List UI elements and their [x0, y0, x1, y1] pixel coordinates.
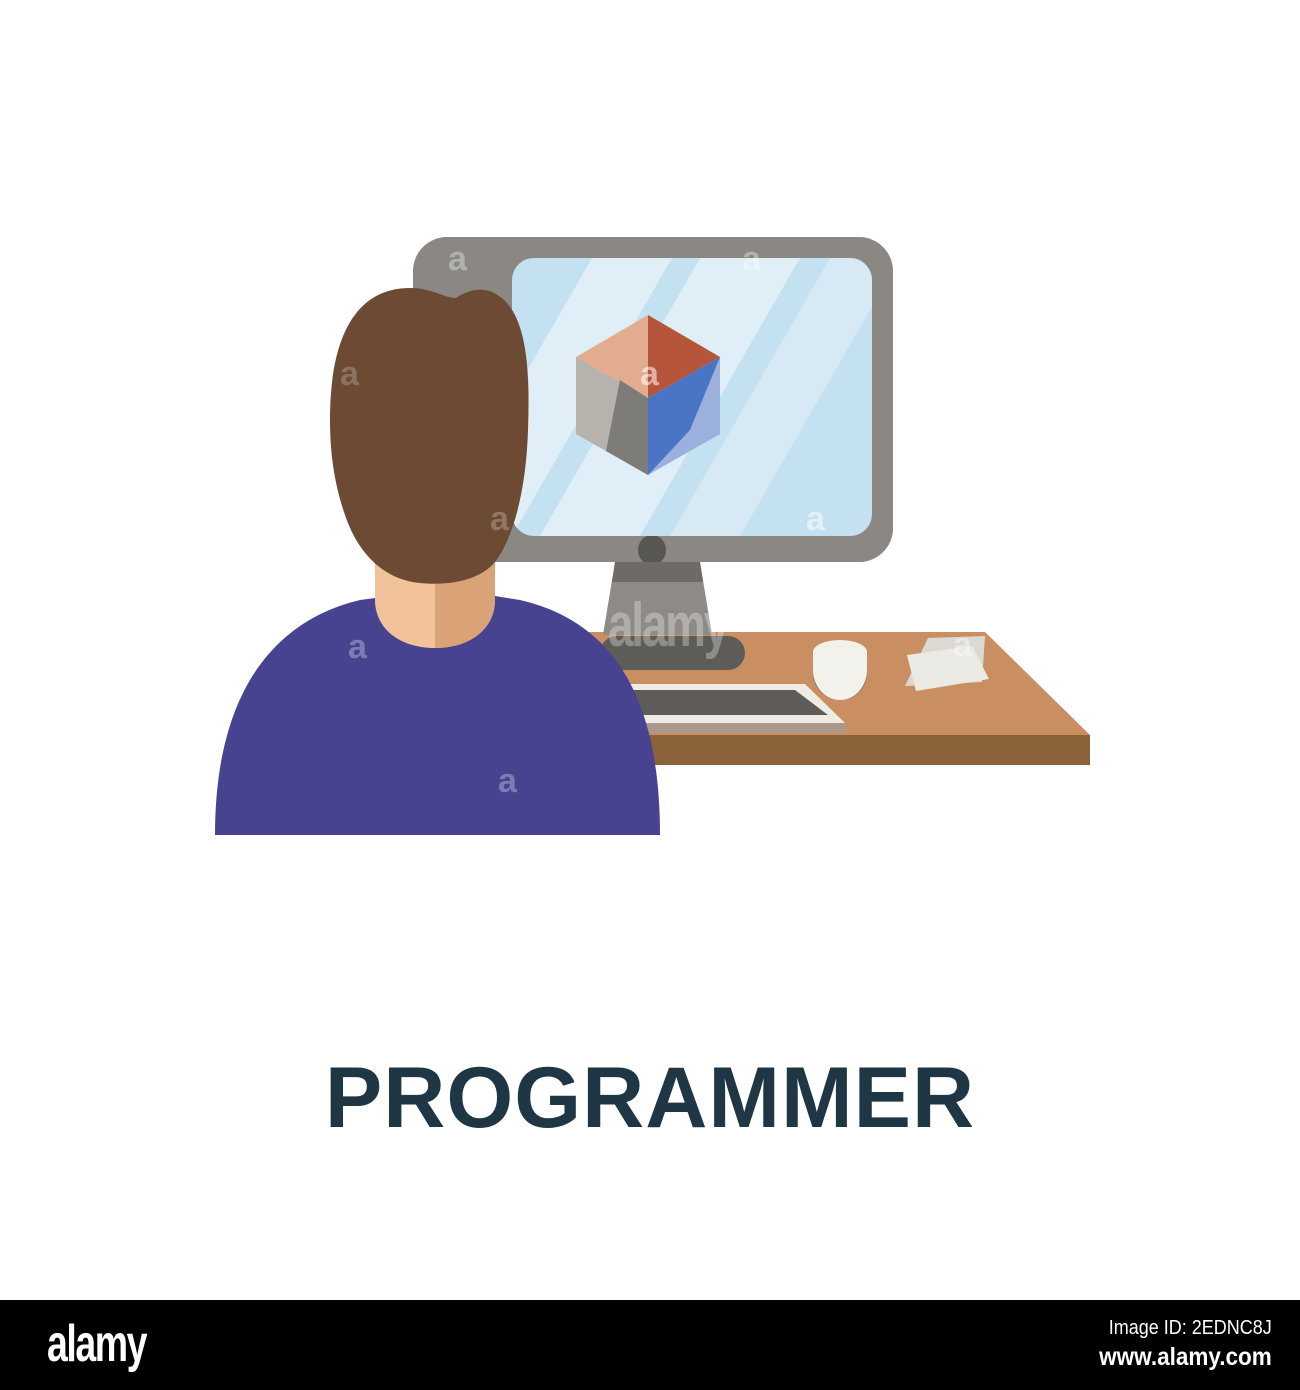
- illustration-stage: a a a a a a a a a alamy PROGRAMMER: [0, 0, 1300, 1300]
- page-title: PROGRAMMER: [0, 1055, 1300, 1141]
- monitor-power-indicator: [638, 535, 666, 565]
- mouse-body: [813, 640, 867, 700]
- monitor-stand-base: [600, 636, 745, 670]
- footer-meta: Image ID: 2EDNC8J www.alamy.com: [1080, 1316, 1272, 1374]
- alamy-url-text: www.alamy.com: [1099, 1341, 1272, 1374]
- person-hair: [330, 288, 529, 584]
- alamy-logo: alamy: [47, 1318, 146, 1370]
- alamy-footer-bar: alamy Image ID: 2EDNC8J www.alamy.com: [0, 1300, 1300, 1390]
- monitor-stand-neck-shadow: [612, 562, 703, 582]
- image-id-text: Image ID: 2EDNC8J: [1099, 1316, 1272, 1341]
- mouse: [813, 640, 867, 700]
